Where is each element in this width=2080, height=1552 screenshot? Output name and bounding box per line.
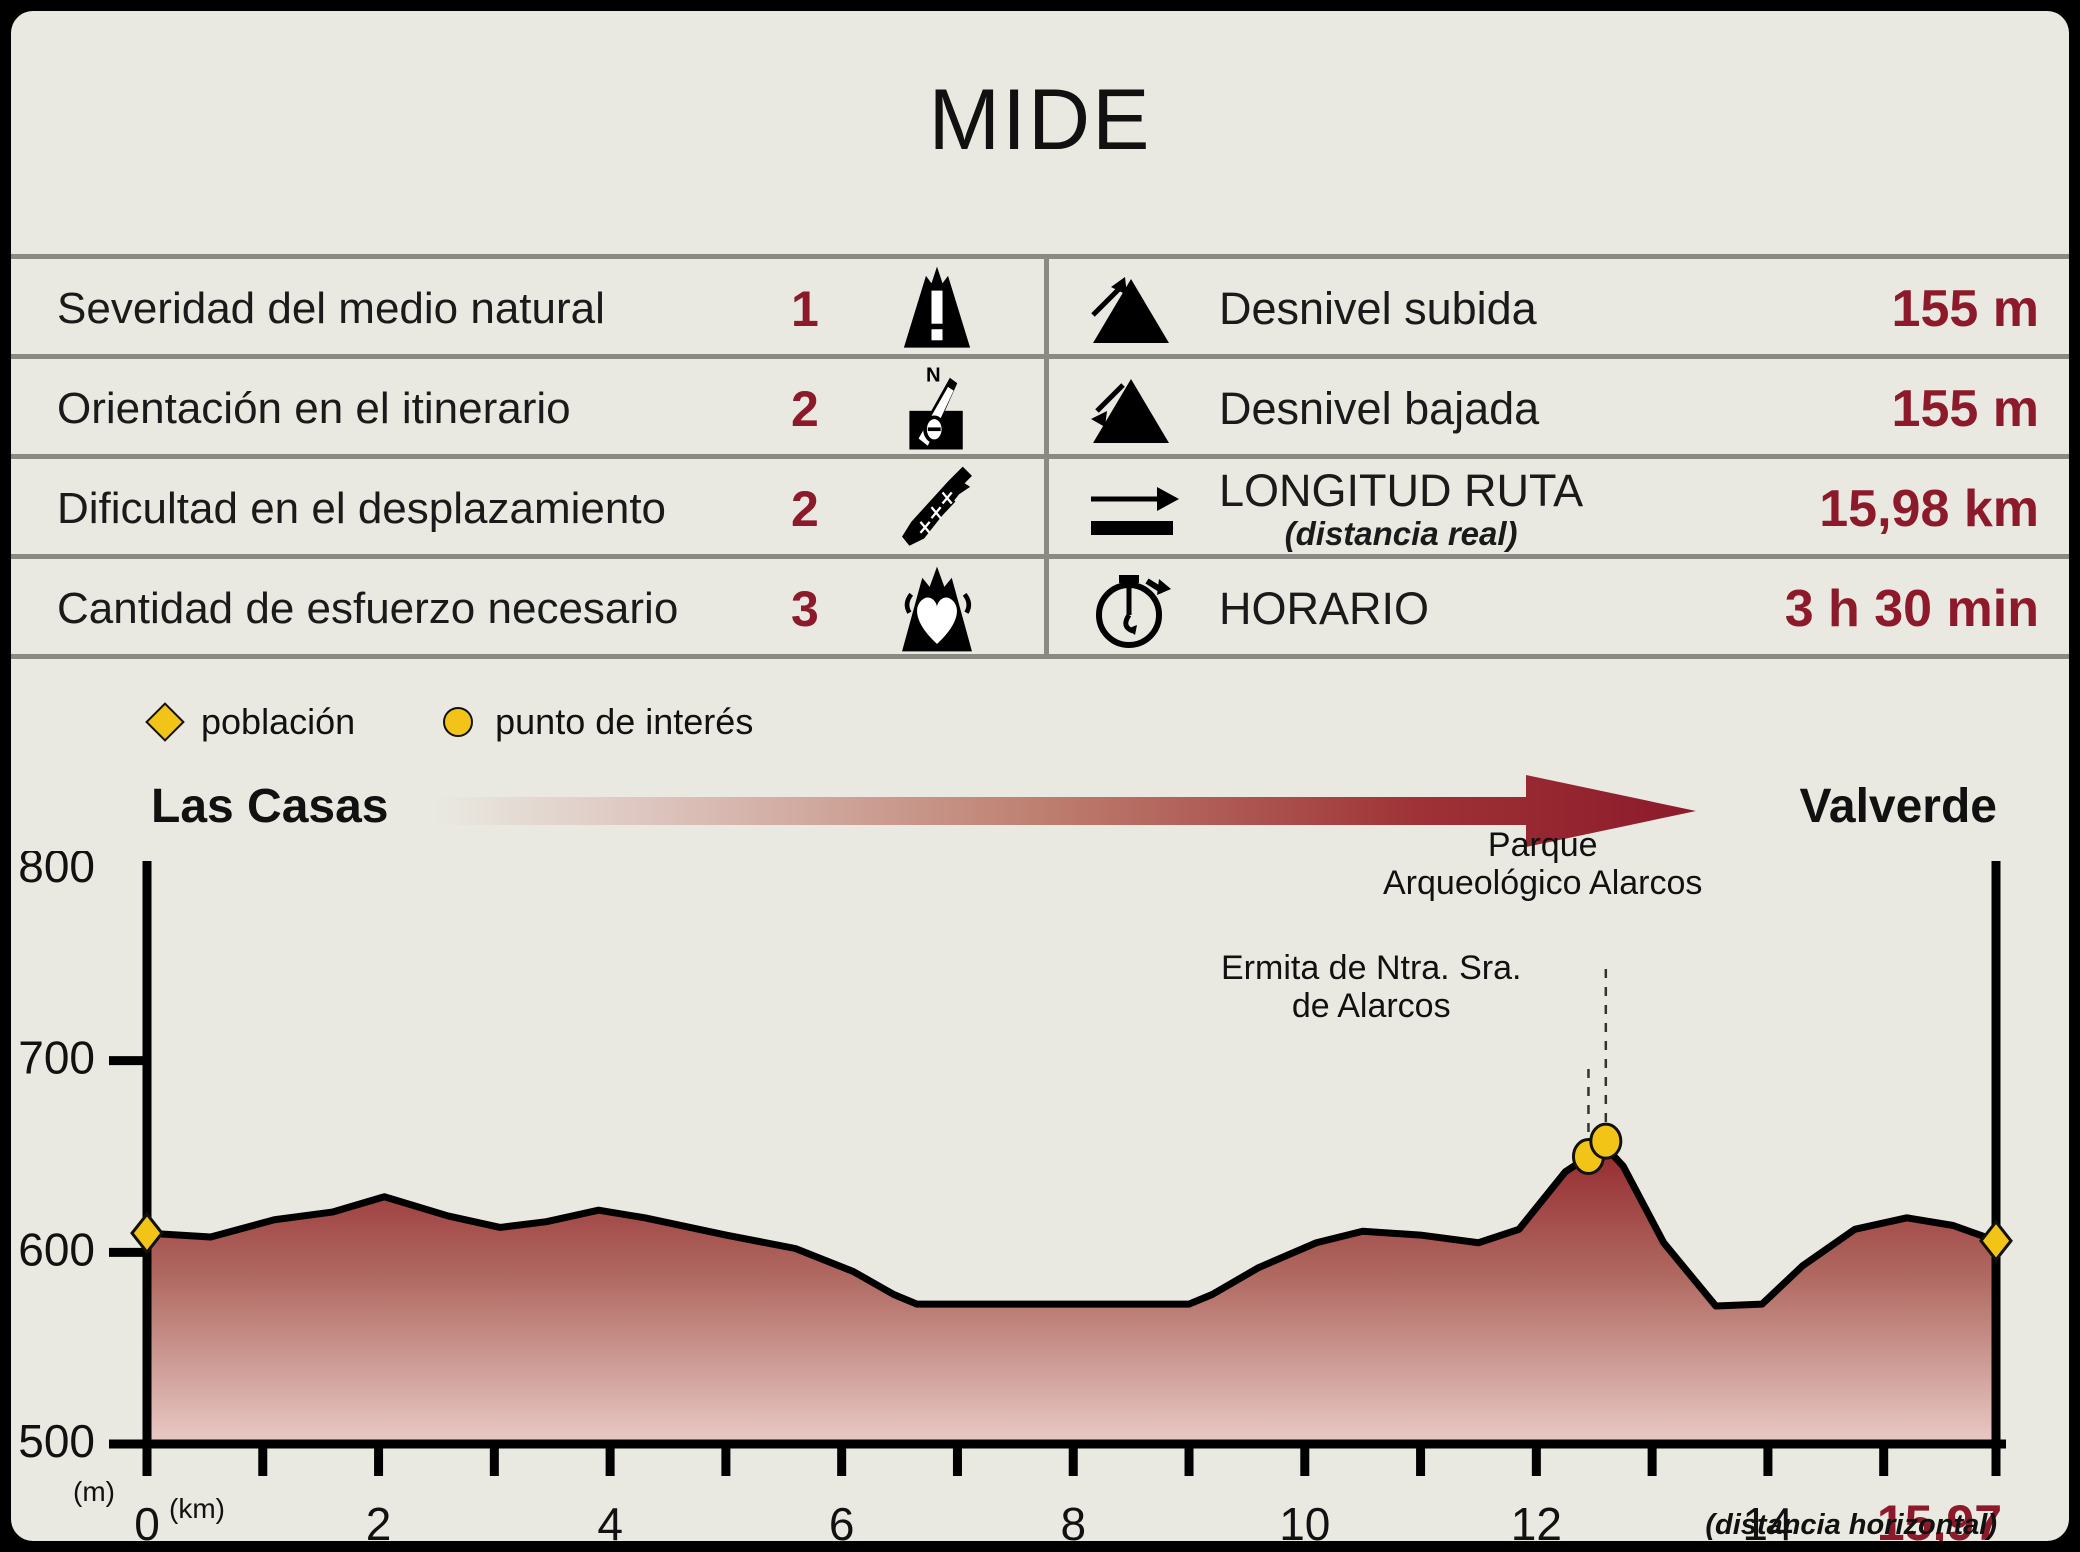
annotation-line: de Alarcos [1221,987,1521,1025]
mide-metric-row: Desnivel subida 155 m [1049,259,2069,359]
compass-icon: N [891,363,983,455]
poster-frame: MIDE Severidad del medio natural 1 [0,0,2080,1552]
page-title: MIDE [11,71,2069,170]
annotation-parque-arqueologico: Parque Arqueológico Alarcos [1383,826,1702,903]
y-tick-label: 600 [18,1223,95,1275]
x-tick-label: 2 [366,1498,392,1541]
svg-text:N: N [926,364,941,386]
x-tick-label: 12 [1511,1498,1562,1541]
mide-criterion-row: Severidad del medio natural 1 [11,259,1044,359]
annotation-line: Arqueológico Alarcos [1383,864,1702,902]
annotation-ermita-alarcos: Ermita de Ntra. Sra. de Alarcos [1221,949,1521,1026]
mide-metric-label: HORARIO [1219,583,1429,635]
mide-criterion-value: 2 [791,380,819,438]
mide-criterion-value: 3 [791,580,819,638]
y-axis-unit-label: (m) [73,1476,115,1508]
mide-criterion-label: Orientación en el itinerario [57,384,571,434]
mountain-up-icon [1085,269,1185,349]
legend-label-punto-interes: punto de interés [495,701,753,743]
title-bar: MIDE [11,11,2069,251]
mide-criterion-value: 2 [791,480,819,538]
arrow-distance-icon [1085,469,1185,549]
profile-area [147,1141,1996,1444]
stopwatch-icon [1085,569,1185,649]
y-tick-label: 500 [18,1415,95,1467]
poblacion-marker-icon [145,702,185,742]
poster-page: MIDE Severidad del medio natural 1 [11,11,2069,1541]
mide-metric-value: 155 m [1892,279,2039,339]
annotation-line: Ermita de Ntra. Sra. [1221,949,1521,987]
mountain-down-icon [1085,369,1185,449]
x-axis-unit-label: (km) [169,1493,225,1525]
annotation-line: Parque [1383,826,1702,864]
mide-metric-label: Desnivel bajada [1219,383,1539,435]
mide-metric-row: LONGITUD RUTA (distancia real) 15,98 km [1049,459,2069,559]
x-tick-label: 6 [829,1498,855,1541]
mide-table: Severidad del medio natural 1 Orientació… [11,254,2069,659]
punto-interes-marker-icon [443,707,473,737]
x-tick-label: 10 [1279,1498,1330,1541]
mide-criterion-label: Cantidad de esfuerzo necesario [57,584,678,634]
x-tick-label: 0 [134,1498,160,1541]
mide-metric-value: 155 m [1892,379,2039,439]
heart-icon [891,563,983,655]
route-end-label: Valverde [1800,779,1997,834]
mide-criterion-row: Cantidad de esfuerzo necesario 3 [11,559,1044,659]
x-axis-footnote: (distancia horizontal) [1705,1509,1997,1541]
route-start-label: Las Casas [151,779,389,834]
mide-criterion-value: 1 [791,280,819,338]
legend-label-poblacion: población [201,701,355,743]
y-tick-label: 800 [18,851,95,892]
mide-criterion-row: Dificultad en el desplazamiento 2 [11,459,1044,559]
profile-legend: población punto de interés [151,701,753,743]
mide-metric-row: Desnivel bajada 155 m [1049,359,2069,459]
mide-metric-value: 3 h 30 min [1785,579,2039,639]
punto-interes-marker [1591,1124,1621,1158]
mide-metric-label: Desnivel subida [1219,283,1537,335]
x-tick-label: 8 [1060,1498,1086,1541]
mide-criterion-label: Severidad del medio natural [57,284,605,334]
mide-criterion-label: Dificultad en el desplazamiento [57,484,666,534]
warning-triangle-icon [891,263,983,355]
x-tick-label: 4 [597,1498,623,1541]
boot-icon [891,463,983,555]
mide-metric-row: HORARIO 3 h 30 min [1049,559,2069,659]
elevation-profile-chart: 5006007008000246810121415,97 Parque Arqu… [11,851,2069,1541]
mide-criterion-row: Orientación en el itinerario 2 N [11,359,1044,459]
mide-metric-label: LONGITUD RUTA [1219,465,1583,516]
mide-metric-value: 15,98 km [1819,479,2039,539]
y-tick-label: 700 [18,1032,95,1084]
mide-metric-label-block: LONGITUD RUTA (distancia real) [1219,465,1583,553]
route-direction-header: Las Casas Valverde [11,771,2069,851]
mide-metric-sublabel: (distancia real) [1219,515,1583,553]
